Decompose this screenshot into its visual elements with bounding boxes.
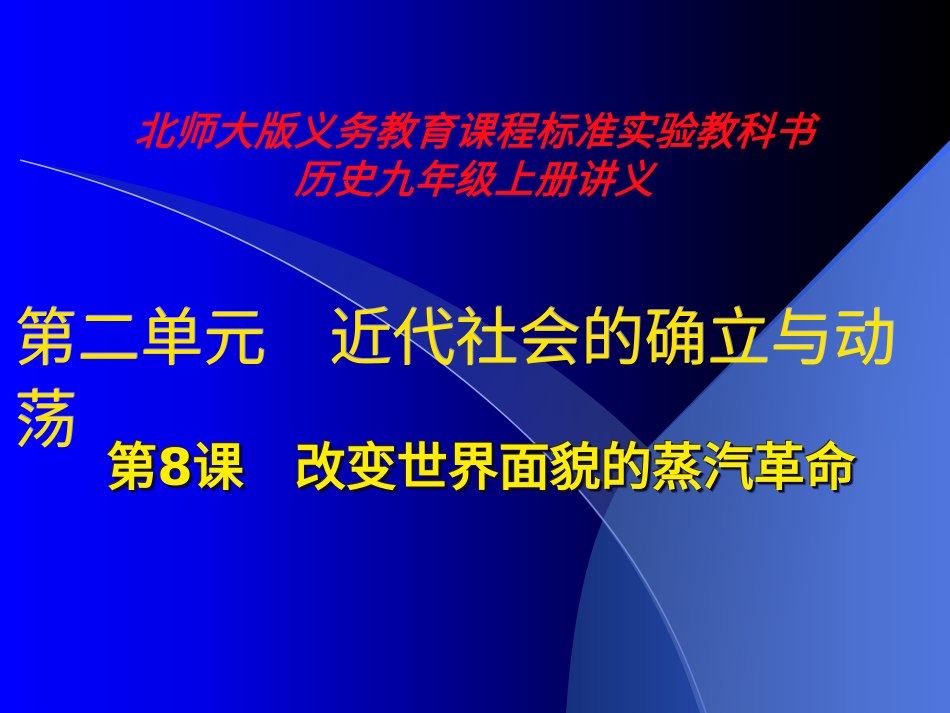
presentation-slide: 北师大版义务教育课程标准实验教科书 历史九年级上册讲义 第二单元 近代社会的确立… — [0, 0, 950, 713]
header-title-line-2: 历史九年级上册讲义 — [0, 156, 950, 204]
slide-header: 北师大版义务教育课程标准实验教科书 历史九年级上册讲义 — [0, 108, 950, 204]
lesson-heading: 第8课 改变世界面貌的蒸汽革命 — [62, 438, 900, 500]
header-title-line-1: 北师大版义务教育课程标准实验教科书 — [0, 108, 950, 156]
